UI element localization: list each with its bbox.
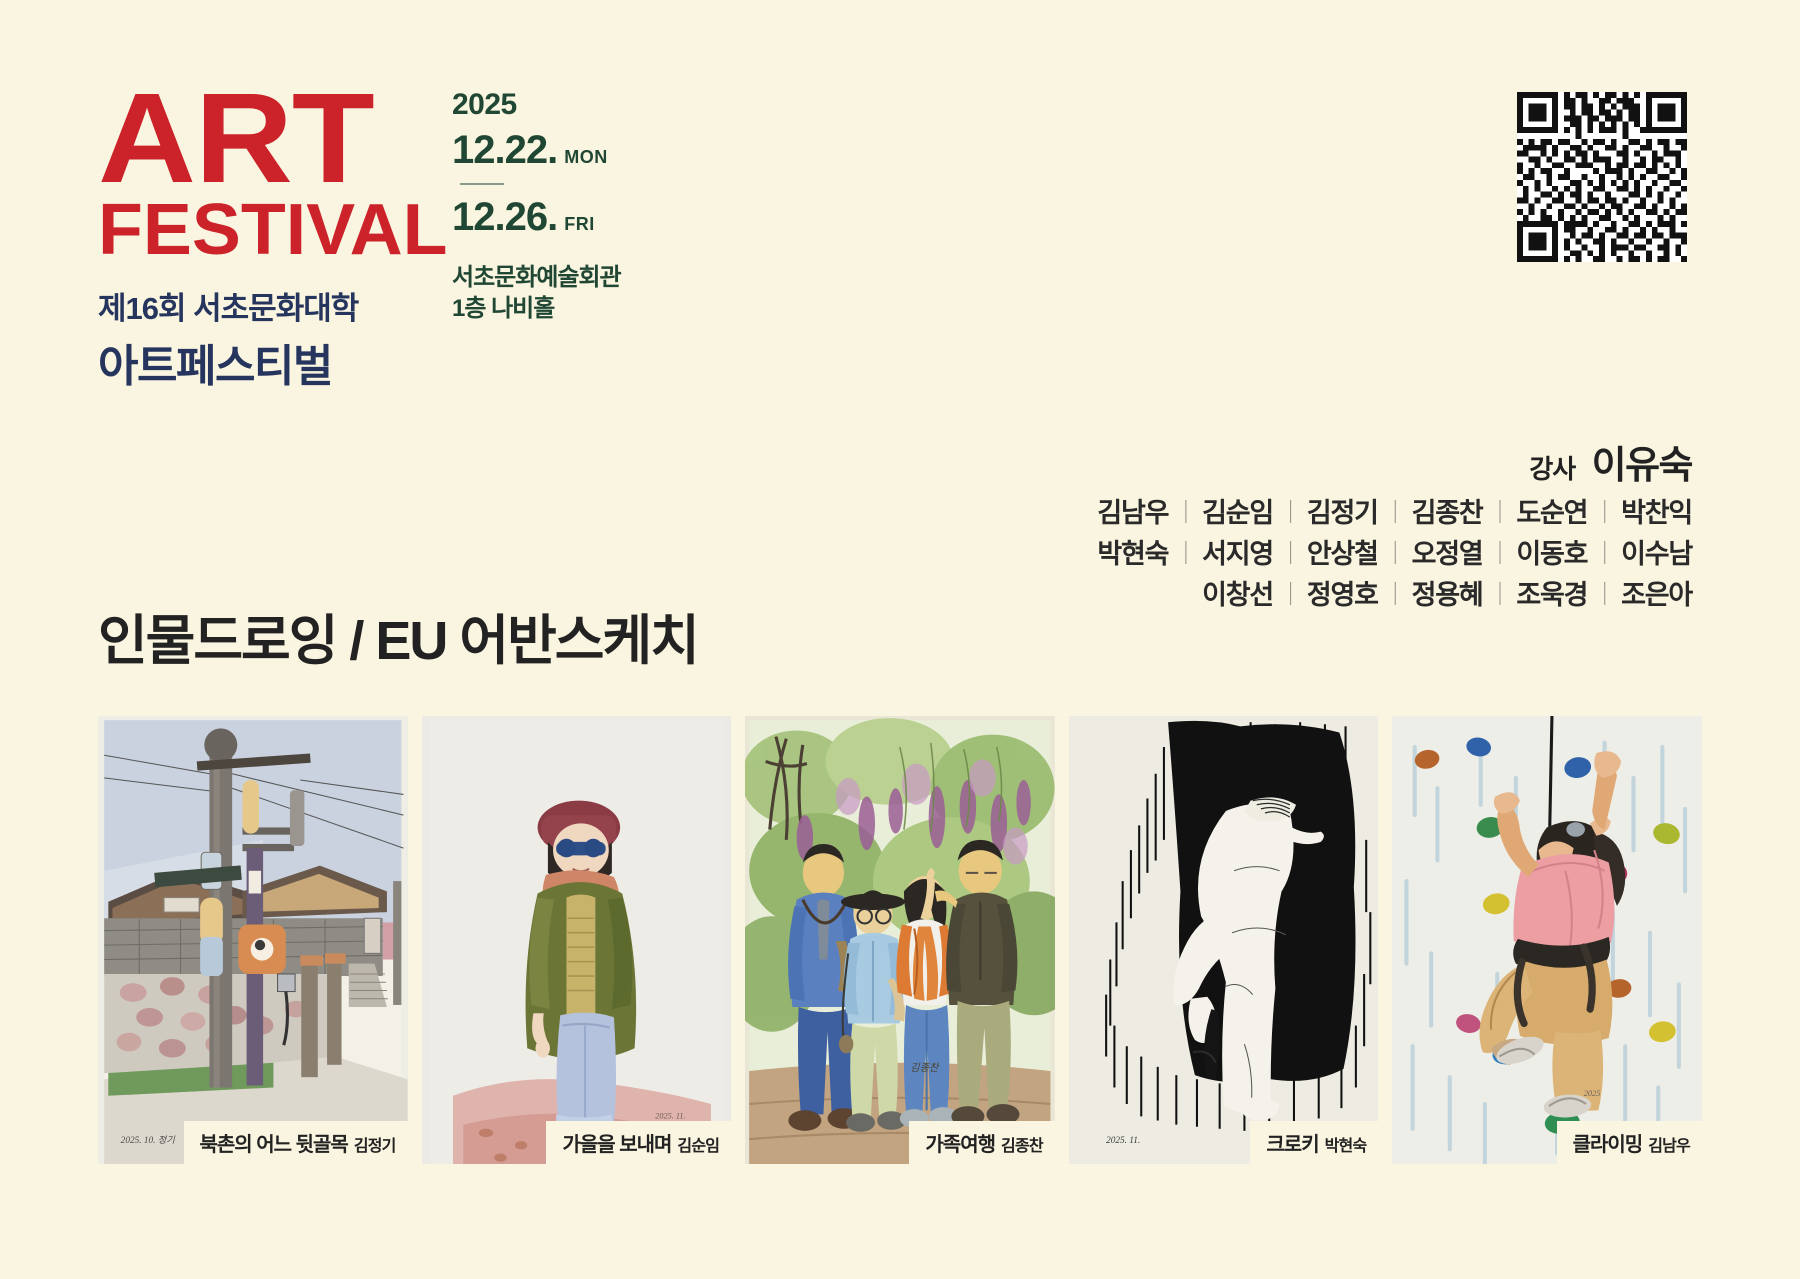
instructor-block: 강사 이유숙 — [1529, 434, 1692, 489]
artwork-author-4: 박현숙 — [1325, 1138, 1367, 1155]
venue-line2: 1층 나비홀 — [452, 293, 621, 324]
artwork-title-4: 크로키 — [1266, 1134, 1318, 1156]
venue-line1: 서초문화예술회관 — [452, 262, 621, 293]
participant-name: 안상철 — [1307, 539, 1378, 569]
course-title: 인물드로잉 / EU 어반스케치 — [98, 596, 698, 675]
participant-name: 오정열 — [1412, 539, 1483, 569]
participant-name: 조욱경 — [1516, 580, 1587, 610]
artwork-card-5[interactable]: 2025 클라이밍김남우 — [1392, 716, 1702, 1164]
participant-name: 김정기 — [1307, 498, 1378, 528]
artwork-card-2[interactable]: 2025. 11. 가을을 보내며김순임 — [422, 716, 732, 1164]
artwork-card-3[interactable]: 김종찬 가족여행김종찬 — [745, 716, 1055, 1164]
end-dayofweek: FRI — [564, 214, 595, 235]
artwork-author-5: 김남우 — [1648, 1138, 1690, 1155]
participant-name: 김순임 — [1202, 498, 1273, 528]
name-separator: ｜ — [1483, 540, 1517, 566]
name-separator: ｜ — [1168, 540, 1202, 566]
climbing-painting: 2025 — [1392, 716, 1702, 1164]
bukchon-alley-painting: 2025. 10. 정기 — [98, 716, 408, 1164]
name-separator: ｜ — [1273, 540, 1307, 566]
artwork-author-3: 김종찬 — [1001, 1138, 1043, 1155]
artwork-caption-3: 가족여행김종찬 — [909, 1121, 1054, 1164]
name-separator: ｜ — [1273, 581, 1307, 607]
participant-row-1: 김남우｜김순임｜김정기｜김종찬｜도순연｜박찬익 — [1097, 493, 1692, 534]
event-year: 2025 — [452, 88, 621, 122]
svg-text:2025. 11.: 2025. 11. — [655, 1111, 685, 1120]
participant-name: 박현숙 — [1097, 539, 1168, 569]
family-trip-painting: 김종찬 — [745, 716, 1055, 1164]
name-separator: ｜ — [1483, 499, 1517, 525]
artwork-title-1: 북촌의 어느 뒷골목 — [200, 1134, 348, 1156]
participant-name: 정영호 — [1307, 580, 1378, 610]
poster-root: ART FESTIVAL 제16회 서초문화대학 아트페스티벌 2025 12.… — [0, 0, 1800, 1279]
artwork-card-1[interactable]: 2025. 10. 정기 북촌의 어느 뒷골목김정기 — [98, 716, 408, 1164]
svg-text:2025. 11.: 2025. 11. — [1106, 1136, 1140, 1146]
participant-row-2: 박현숙｜서지영｜안상철｜오정열｜이동호｜이수남 — [1097, 534, 1692, 575]
participant-name: 김종찬 — [1412, 498, 1483, 528]
artwork-card-4[interactable]: 2025. 11. 크로키박현숙 — [1069, 716, 1379, 1164]
participant-list: 김남우｜김순임｜김정기｜김종찬｜도순연｜박찬익 박현숙｜서지영｜안상철｜오정열｜… — [1097, 493, 1692, 616]
participant-row-3: 이창선｜정영호｜정용혜｜조욱경｜조은아 — [1097, 575, 1692, 616]
participant-name: 이동호 — [1516, 539, 1587, 569]
date-venue-block: 2025 12.22. MON 12.26. FRI 서초문화예술회관 1층 나… — [452, 88, 621, 324]
svg-text:2025. 10. 정기: 2025. 10. 정기 — [121, 1135, 177, 1146]
artwork-caption-4: 크로키박현숙 — [1250, 1121, 1378, 1164]
artwork-caption-1: 북촌의 어느 뒷골목김정기 — [184, 1121, 408, 1164]
start-date: 12.22. — [452, 128, 557, 173]
croquis-ink-painting: 2025. 11. — [1069, 716, 1379, 1164]
artwork-title-3: 가족여행 — [925, 1134, 995, 1156]
qr-code[interactable] — [1513, 88, 1699, 274]
name-separator: ｜ — [1587, 540, 1621, 566]
instructor-name: 이유숙 — [1592, 445, 1692, 487]
svg-text:김종찬: 김종찬 — [910, 1062, 940, 1074]
end-date-line: 12.26. FRI — [452, 195, 621, 240]
name-separator: ｜ — [1273, 499, 1307, 525]
participant-name: 조은아 — [1621, 580, 1692, 610]
participant-name: 도순연 — [1516, 498, 1587, 528]
artwork-title-5: 클라이밍 — [1573, 1134, 1643, 1156]
date-separator — [460, 183, 504, 185]
name-separator: ｜ — [1378, 499, 1412, 525]
name-separator: ｜ — [1378, 581, 1412, 607]
name-separator: ｜ — [1378, 540, 1412, 566]
venue: 서초문화예술회관 1층 나비홀 — [452, 262, 621, 324]
instructor-label: 강사 — [1529, 454, 1575, 484]
artwork-title-2: 가을을 보내며 — [562, 1134, 671, 1156]
participant-name: 김남우 — [1097, 498, 1168, 528]
artwork-caption-5: 클라이밍김남우 — [1557, 1121, 1702, 1164]
brand-subtitle-line2: 아트페스티벌 — [98, 330, 518, 394]
name-separator: ｜ — [1587, 581, 1621, 607]
svg-text:2025: 2025 — [1584, 1089, 1600, 1098]
qr-code-icon — [1517, 92, 1687, 262]
participant-name: 이창선 — [1202, 580, 1273, 610]
participant-name: 서지영 — [1202, 539, 1273, 569]
end-date: 12.26. — [452, 195, 557, 240]
artwork-author-1: 김정기 — [354, 1138, 396, 1155]
name-separator: ｜ — [1587, 499, 1621, 525]
autumn-figure-painting: 2025. 11. — [422, 716, 732, 1164]
artwork-gallery: 2025. 10. 정기 북촌의 어느 뒷골목김정기 — [98, 716, 1702, 1164]
participant-name: 박찬익 — [1621, 498, 1692, 528]
name-separator: ｜ — [1168, 499, 1202, 525]
start-date-line: 12.22. MON — [452, 128, 621, 173]
artwork-author-2: 김순임 — [677, 1138, 719, 1155]
artwork-caption-2: 가을을 보내며김순임 — [546, 1121, 731, 1164]
name-separator: ｜ — [1483, 581, 1517, 607]
start-dayofweek: MON — [564, 147, 608, 168]
participant-name: 정용혜 — [1412, 580, 1483, 610]
participant-name: 이수남 — [1621, 539, 1692, 569]
